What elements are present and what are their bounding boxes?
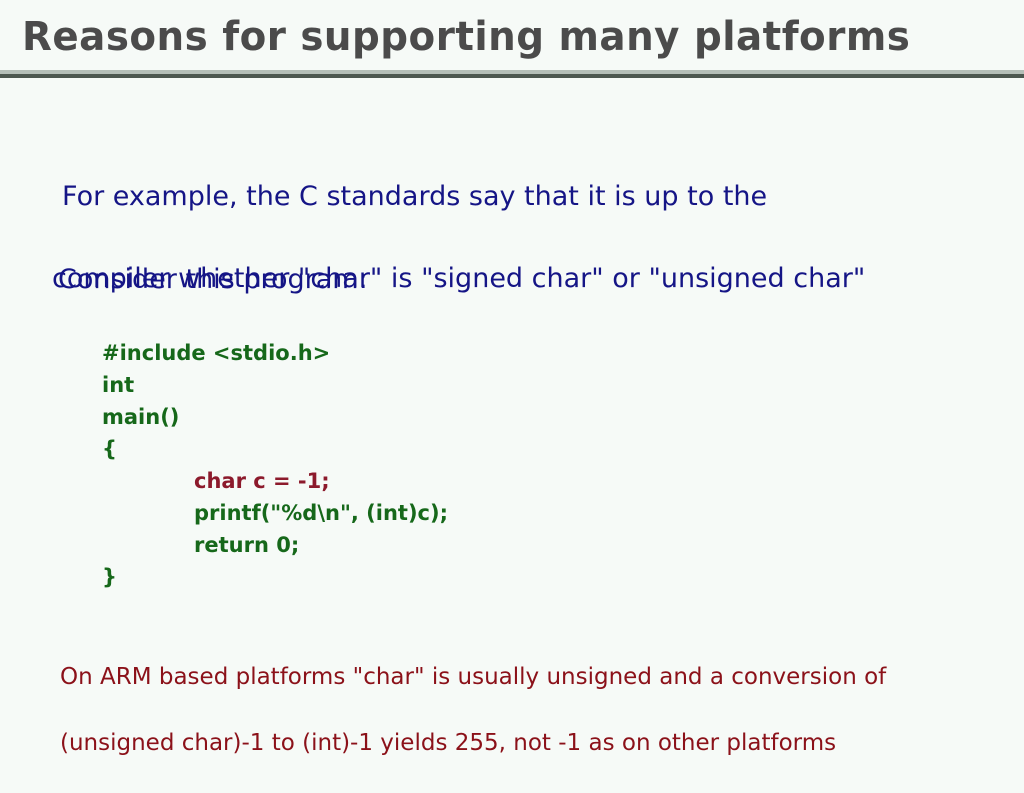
intro-paragraph: For example, the C standards say that it… bbox=[52, 135, 992, 340]
code-line: int bbox=[102, 369, 448, 401]
code-line: char c = -1; bbox=[102, 465, 448, 497]
code-line: main() bbox=[102, 401, 448, 433]
code-line: printf("%d\n", (int)c); bbox=[102, 497, 448, 529]
title-divider-dark-band bbox=[0, 74, 1024, 78]
note-paragraph-line-1: On ARM based platforms "char" is usually… bbox=[60, 661, 990, 694]
page-title: Reasons for supporting many platforms bbox=[22, 12, 910, 62]
code-line: } bbox=[102, 561, 448, 593]
slide-body: For example, the C standards say that it… bbox=[0, 82, 1024, 768]
consider-program-label: Consider this program: bbox=[58, 262, 368, 298]
title-divider bbox=[0, 70, 1024, 78]
note-paragraph: On ARM based platforms "char" is usually… bbox=[60, 628, 990, 793]
intro-paragraph-line-1: For example, the C standards say that it… bbox=[52, 176, 992, 217]
slide-header: Reasons for supporting many platforms bbox=[0, 0, 1024, 82]
code-line: return 0; bbox=[102, 529, 448, 561]
code-line: { bbox=[102, 433, 448, 465]
note-paragraph-line-2: (unsigned char)-1 to (int)-1 yields 255,… bbox=[60, 727, 990, 760]
code-listing: #include <stdio.h> int main() { char c =… bbox=[102, 337, 448, 593]
code-line: #include <stdio.h> bbox=[102, 337, 448, 369]
